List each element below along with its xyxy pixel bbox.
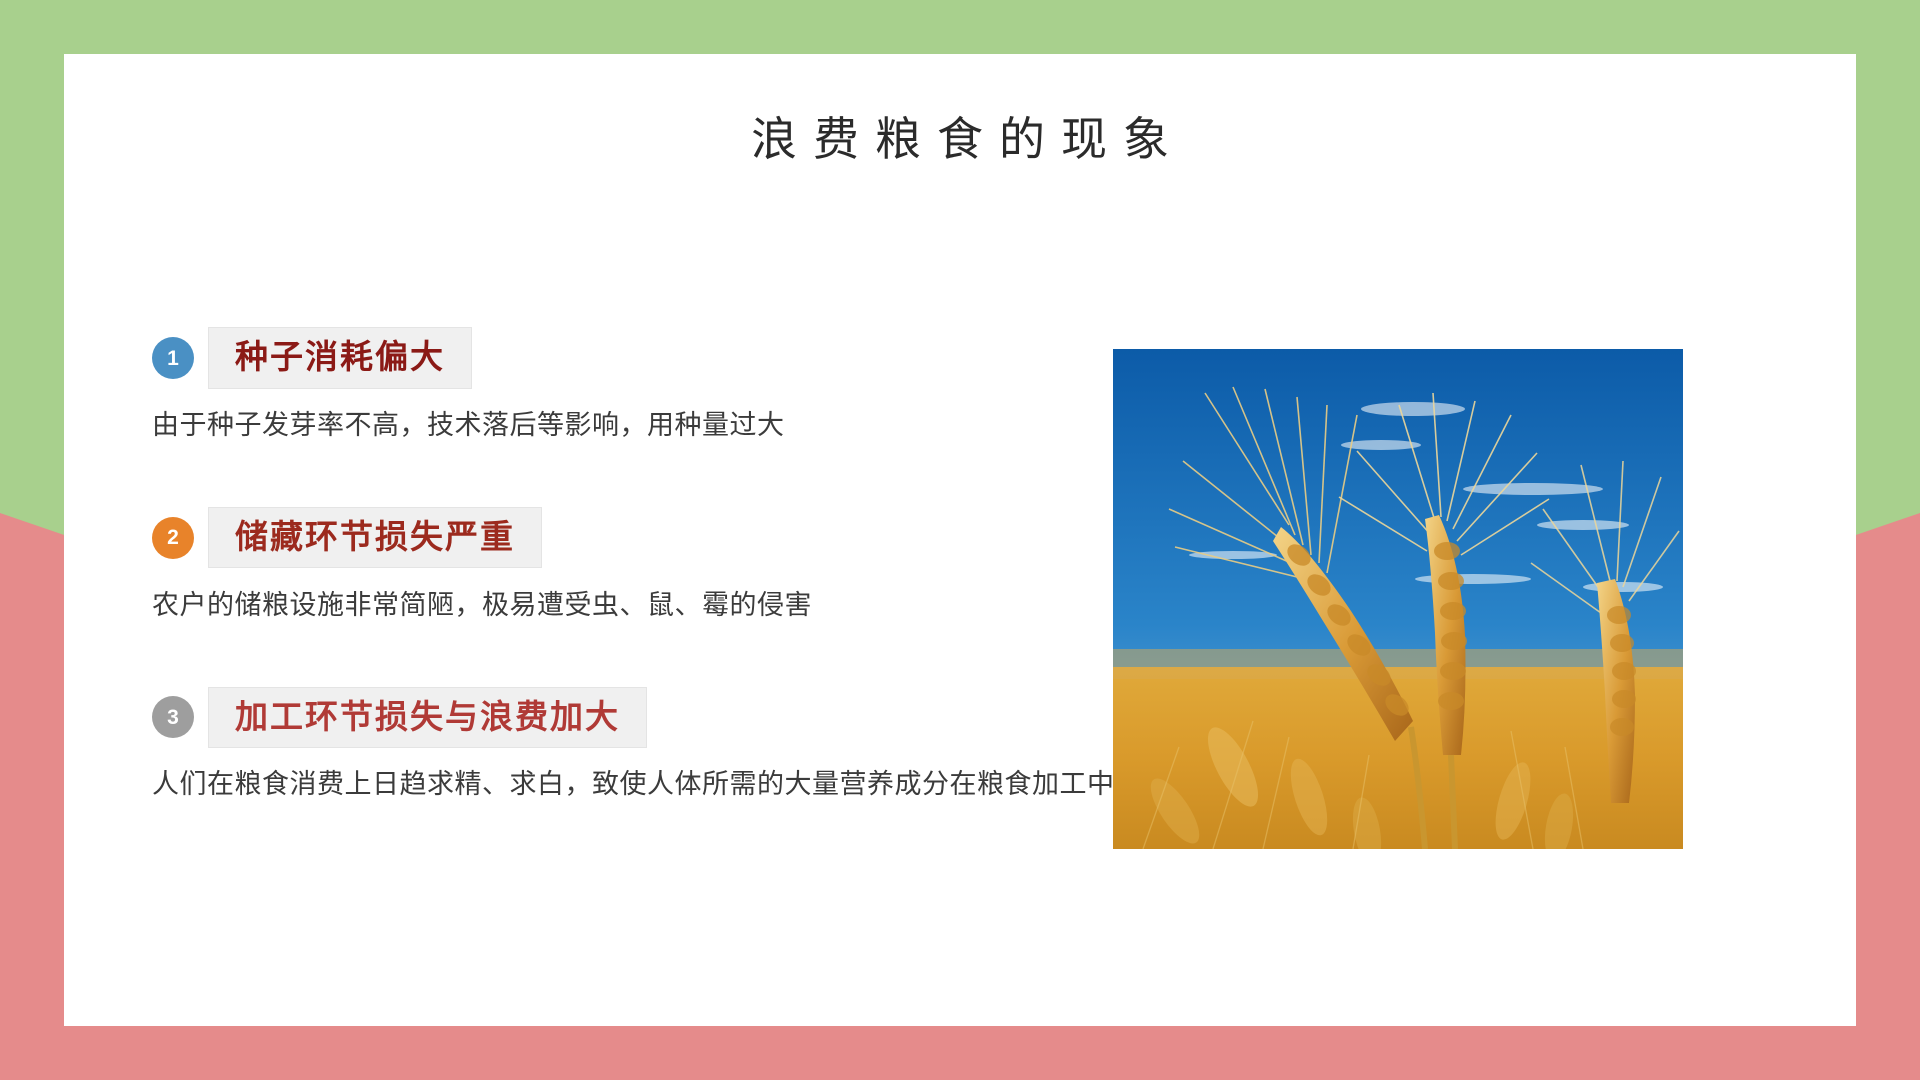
bullet-item-2: 2 储藏环节损失严重 农户的储粮设施非常简陋，极易遭受虫、鼠、霉的侵害: [152, 510, 1152, 628]
slide-content: 1 种子消耗偏大 由于种子发芽率不高，技术落后等影响，用种量过大 2 储藏环节损…: [64, 284, 1856, 984]
slide-card: 浪费粮食的现象 1 种子消耗偏大 由于种子发芽率不高，技术落后等影响，用种量过大…: [64, 54, 1856, 1026]
bullet-description-2: 农户的储粮设施非常简陋，极易遭受虫、鼠、霉的侵害: [152, 584, 1152, 628]
bullet-number-badge-3: 3: [152, 696, 194, 738]
bullet-list: 1 种子消耗偏大 由于种子发芽率不高，技术落后等影响，用种量过大 2 储藏环节损…: [152, 330, 1152, 807]
bullet-number-badge-1: 1: [152, 337, 194, 379]
bullet-item-1: 1 种子消耗偏大 由于种子发芽率不高，技术落后等影响，用种量过大: [152, 330, 1152, 448]
wheat-field-image: [1113, 349, 1683, 849]
bullet-number-badge-2: 2: [152, 517, 194, 559]
bullet-title-3: 加工环节损失与浪费加大: [208, 687, 647, 748]
bullet-title-1: 种子消耗偏大: [208, 327, 472, 388]
bullet-item-1-header: 1 种子消耗偏大: [152, 330, 1152, 386]
bullet-item-2-header: 2 储藏环节损失严重: [152, 510, 1152, 566]
bullet-description-1: 由于种子发芽率不高，技术落后等影响，用种量过大: [152, 404, 1152, 448]
wheat-field-illustration: [1113, 349, 1683, 849]
bullet-title-2: 储藏环节损失严重: [208, 507, 542, 568]
bullet-item-3-header: 3 加工环节损失与浪费加大: [152, 689, 1152, 745]
bullet-item-3: 3 加工环节损失与浪费加大 人们在粮食消费上日趋求精、求白，致使人体所需的大量营…: [152, 689, 1152, 807]
slide-root: 浪费粮食的现象 1 种子消耗偏大 由于种子发芽率不高，技术落后等影响，用种量过大…: [0, 0, 1920, 1080]
page-title: 浪费粮食的现象: [64, 112, 1856, 167]
